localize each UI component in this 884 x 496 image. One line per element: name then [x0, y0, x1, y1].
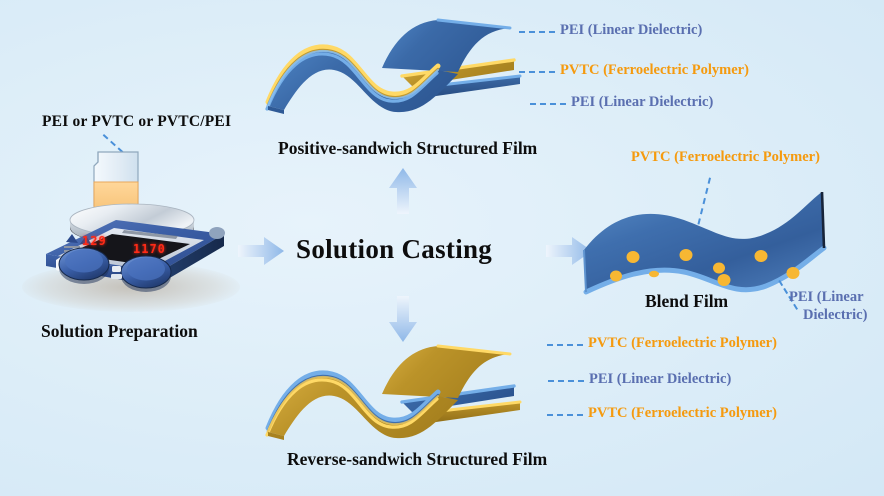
blend-film-caption: Blend Film	[645, 292, 728, 312]
blend-matrix-label-line2: Dielectric)	[803, 307, 867, 323]
hotplate-temperature-display: 129	[82, 234, 107, 248]
positive-layer-bottom-leader	[530, 103, 566, 105]
positive-sandwich-film	[262, 10, 526, 130]
blend-filler-label: PVTC (Ferroelectric Polymer)	[631, 149, 820, 165]
arrow-center-to-top	[388, 168, 418, 214]
diagram-canvas: PEI or PVTC or PVTC/PEI	[0, 0, 884, 496]
reverse-layer-top-label: PVTC (Ferroelectric Polymer)	[588, 335, 777, 351]
arrow-left-to-center	[238, 236, 284, 266]
positive-layer-bottom-label: PEI (Linear Dielectric)	[571, 94, 713, 110]
beaker	[94, 152, 138, 212]
reverse-layer-bottom-leader	[547, 414, 583, 416]
material-label: PEI or PVTC or PVTC/PEI	[42, 113, 231, 130]
process-label: Solution Casting	[296, 234, 492, 264]
blend-film	[580, 186, 865, 296]
reverse-sandwich-caption: Reverse-sandwich Structured Film	[287, 450, 547, 470]
hotplate-illustration	[28, 150, 238, 290]
positive-layer-top-leader	[519, 31, 555, 33]
blend-matrix-label-line1: PEI (Linear	[789, 289, 864, 305]
reverse-layer-bottom-label: PVTC (Ferroelectric Polymer)	[588, 405, 777, 421]
positive-sandwich-caption: Positive-sandwich Structured Film	[278, 139, 537, 159]
solution-preparation-caption: Solution Preparation	[41, 322, 198, 342]
reverse-layer-middle-label: PEI (Linear Dielectric)	[589, 371, 731, 387]
reverse-layer-top-leader	[547, 344, 583, 346]
positive-layer-middle-label: PVTC (Ferroelectric Polymer)	[560, 62, 749, 78]
reverse-layer-middle-leader	[548, 380, 584, 382]
reverse-sandwich-film	[262, 336, 526, 456]
positive-layer-top-label: PEI (Linear Dielectric)	[560, 22, 702, 38]
positive-layer-middle-leader	[519, 71, 555, 73]
hotplate-speed-display: 1170	[133, 242, 166, 256]
